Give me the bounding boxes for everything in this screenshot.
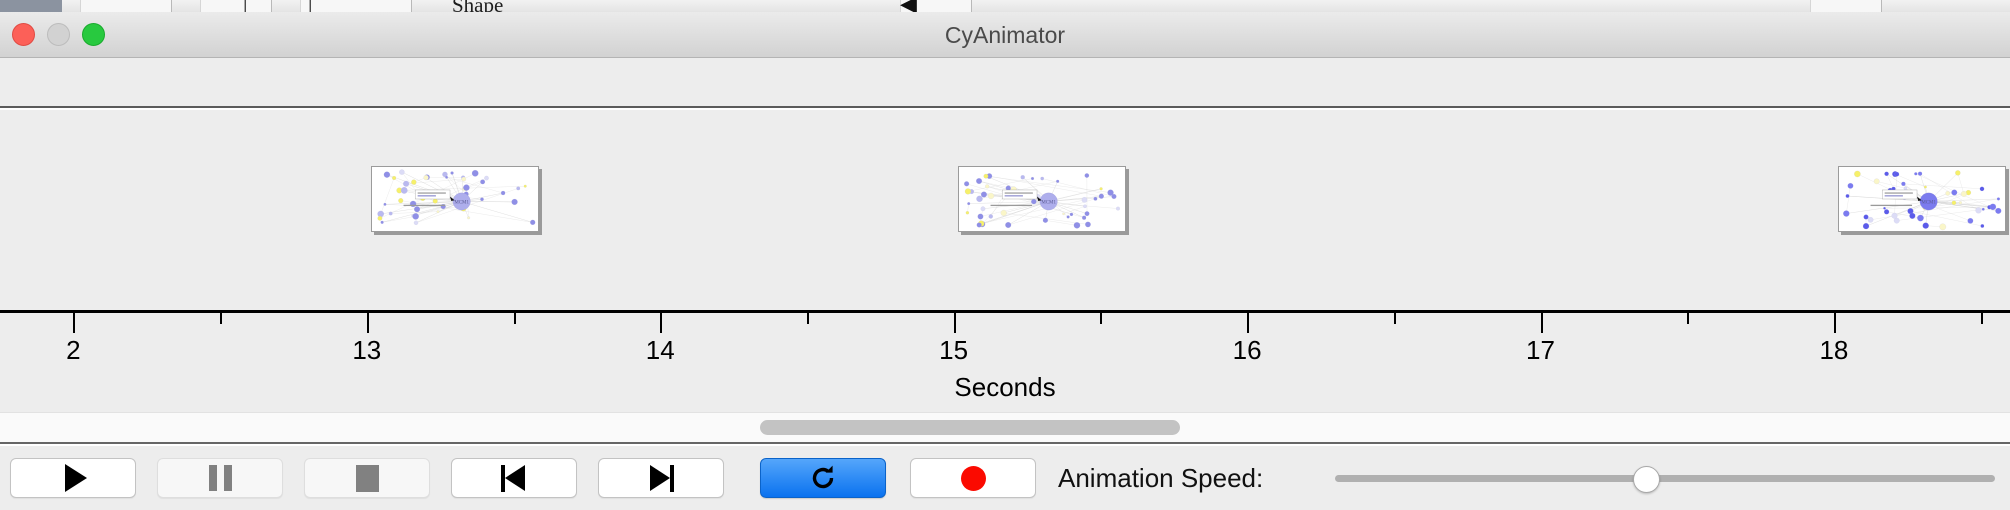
minimize-icon[interactable] [47, 23, 70, 46]
background-window-strip: | | ◀ Shape [0, 0, 2010, 12]
record-icon [961, 466, 986, 491]
network-graph: MCM1 [959, 167, 1125, 231]
svg-text:MCM1: MCM1 [1041, 200, 1056, 205]
scrollbar-thumb[interactable] [760, 420, 1180, 435]
loop-icon [808, 463, 838, 493]
axis-tick-minor [1100, 313, 1102, 324]
background-window-tab [300, 0, 412, 12]
axis-tick-label: 17 [1526, 335, 1555, 366]
background-window-tab [80, 0, 172, 12]
axis-tick-label: 16 [1233, 335, 1262, 366]
axis-tick-label: 13 [352, 335, 381, 366]
title-bar: CyAnimator [0, 12, 2010, 58]
close-icon[interactable] [12, 23, 35, 46]
axis-tick-minor [807, 313, 809, 324]
slider-thumb[interactable] [1633, 466, 1660, 493]
stop-icon [356, 465, 379, 492]
page-title: CyAnimator [0, 12, 2010, 58]
record-button[interactable] [910, 458, 1036, 498]
zoom-icon[interactable] [82, 23, 105, 46]
axis-tick-major [1247, 313, 1249, 333]
axis-tick-major [367, 313, 369, 333]
axis-tick-minor [1687, 313, 1689, 324]
play-button[interactable] [10, 458, 136, 498]
toolbar-divider [0, 106, 2010, 108]
axis-tick-minor [1394, 313, 1396, 324]
axis-tick-label: 18 [1819, 335, 1848, 366]
svg-text:MCM1: MCM1 [1921, 200, 1936, 205]
cyanimator-window: | | ◀ Shape CyAnimator + Clear All Frame… [0, 0, 2010, 510]
network-graph: MCM1 [372, 167, 538, 231]
timeline-scrollbar[interactable] [0, 412, 2010, 444]
timeline-axis [0, 310, 2010, 313]
stop-button[interactable] [304, 458, 430, 498]
skip-next-icon [648, 465, 674, 492]
axis-tick-label: 14 [646, 335, 675, 366]
axis-tick-minor [220, 313, 222, 324]
axis-tick-label: 2 [66, 335, 80, 366]
animation-speed-label: Animation Speed: [1058, 458, 1263, 498]
network-graph: MCM1 [1839, 167, 2005, 231]
pause-icon [209, 465, 232, 491]
frame-thumbnail[interactable]: MCM1 [1838, 166, 2006, 232]
axis-tick-major [660, 313, 662, 333]
axis-tick-minor [1981, 313, 1983, 324]
axis-tick-major [954, 313, 956, 333]
skip-previous-button[interactable] [451, 458, 577, 498]
background-window-label: Shape [452, 0, 503, 12]
svg-text:MCM1: MCM1 [454, 200, 469, 205]
background-window-dark-block [0, 0, 62, 12]
axis-tick-major [73, 313, 75, 333]
window-controls [12, 23, 105, 46]
animation-speed-slider[interactable] [1335, 458, 1995, 498]
axis-tick-major [1541, 313, 1543, 333]
skip-next-button[interactable] [598, 458, 724, 498]
background-window-tab [1810, 0, 1882, 12]
axis-title: Seconds [0, 372, 2010, 403]
axis-tick-label: 15 [939, 335, 968, 366]
pause-button[interactable] [157, 458, 283, 498]
toolbar: + Clear All Frames [0, 58, 2010, 108]
slider-track [1335, 475, 1995, 482]
frame-thumbnail[interactable]: MCM1 [958, 166, 1126, 232]
timeline-panel: MCM1MCM1MCM1 2131415161718 Seconds [0, 110, 2010, 412]
playback-control-bar: Animation Speed: [0, 446, 2010, 510]
loop-button[interactable] [760, 458, 886, 498]
play-icon [65, 464, 87, 492]
skip-previous-icon [501, 465, 527, 492]
axis-tick-minor [514, 313, 516, 324]
frame-thumbnail[interactable]: MCM1 [371, 166, 539, 232]
axis-tick-major [1834, 313, 1836, 333]
background-window-tab [200, 0, 272, 12]
